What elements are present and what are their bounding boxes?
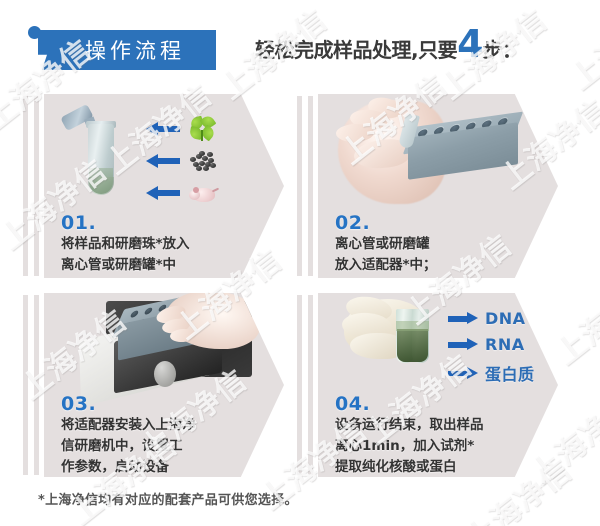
step-1-illustration [58,100,258,210]
card-accent-stripe [34,295,39,475]
step-1-line-2: 离心管或研磨罐*中 [61,255,261,276]
output-row-rna: RNA [448,335,525,354]
plant-leaf-icon [188,116,218,142]
arrow-left-icon [146,154,180,169]
subtitle-step-count: 4 [457,29,483,59]
step-4-line-3: 提取纯化核酸或蛋白 [335,457,535,477]
step-3-line-2: 信研磨机中，设置工 [61,436,261,457]
step-3-number: 03. [61,393,96,415]
step-3-illustration [74,295,264,407]
step-4-illustration: DNA RNA 蛋白质 [338,297,543,395]
output-row-dna: DNA [448,309,526,328]
tube-supernatant [396,321,429,331]
mouse-icon [188,180,218,206]
homogenizer-knob [154,361,176,387]
step-1-line-1: 将样品和研磨珠*放入 [61,234,261,255]
output-label-protein: 蛋白质 [485,361,535,385]
sample-input-row-beads [146,148,218,174]
watermark-text: 上海净信 [545,261,600,372]
header-banner: 操作流程 轻松完成样品处理,只要 4 步： [0,0,600,86]
step-2-illustration [324,96,539,212]
step-1-description: 将样品和研磨珠*放入 离心管或研磨罐*中 [61,234,261,276]
section-tag: 操作流程 [38,30,216,70]
card-accent-stripe [23,295,28,475]
step-1-number: 01. [61,212,96,234]
section-tag-label: 操作流程 [69,35,185,65]
arrow-left-icon [146,122,180,137]
step-2-description: 离心管或研磨罐 放入适配器*中； [335,234,535,276]
subtitle-prefix: 轻松完成样品处理,只要 [255,34,457,63]
step-card-2: 02. 离心管或研磨罐 放入适配器*中； [318,94,558,278]
output-row-protein: 蛋白质 [448,361,535,385]
step-3-line-3: 作参数，启动设备 [61,457,261,477]
grinding-beads-icon [188,148,218,174]
header-subtitle: 轻松完成样品处理,只要 4 步： [255,29,522,63]
output-label-dna: DNA [485,309,526,328]
sample-input-row-plant [146,116,218,142]
footnote: *上海净信均有对应的配套产品可供您选择。 [38,489,298,508]
arrow-right-icon [448,338,478,351]
step-2-line-1: 离心管或研磨罐 [335,234,535,255]
step-2-line-2: 放入适配器*中； [335,255,535,276]
step-3-description: 将适配器安装入上海净 信研磨机中，设置工 作参数，启动设备 [61,415,261,477]
card-accent-stripe [308,295,313,475]
arrow-right-icon [448,312,478,325]
step-card-3: 03. 将适配器安装入上海净 信研磨机中，设置工 作参数，启动设备 [44,293,284,477]
step-4-line-2: 离心1min，加入试剂* [335,436,535,457]
step-3-line-1: 将适配器安装入上海净 [61,415,261,436]
step-4-description: 设备运行结束，取出样品 离心1min，加入试剂* 提取纯化核酸或蛋白 [335,415,535,477]
card-accent-stripe [297,96,302,276]
step-card-4: DNA RNA 蛋白质 04. 设备运行结束，取出样品 离心1min，加入试剂*… [318,293,558,477]
card-accent-stripe [308,96,313,276]
output-label-rna: RNA [485,335,525,354]
card-accent-stripe [34,96,39,276]
subtitle-suffix: 步： [483,34,522,63]
tube-liquid [89,168,113,194]
step-4-line-1: 设备运行结束，取出样品 [335,415,535,436]
step-card-1: 01. 将样品和研磨珠*放入 离心管或研磨罐*中 [44,94,284,278]
tube-liquid [397,329,428,362]
arrow-right-icon [448,367,478,380]
centrifuge-tube-icon [88,114,114,192]
arrow-left-icon [146,186,180,201]
step-2-number: 02. [335,212,370,234]
card-accent-stripe [23,96,28,276]
card-accent-stripe [297,295,302,475]
sample-input-row-mouse [146,180,218,206]
step-4-number: 04. [335,393,370,415]
